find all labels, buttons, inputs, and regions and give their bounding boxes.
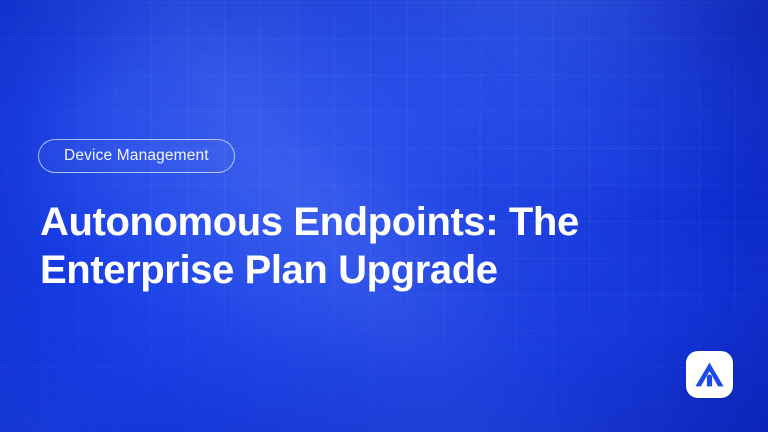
slide-content: Device Management Autonomous Endpoints: … <box>0 0 768 432</box>
brand-logo <box>686 351 733 398</box>
page-title-line-2: Enterprise Plan Upgrade <box>40 246 660 294</box>
page-title: Autonomous Endpoints: The Enterprise Pla… <box>40 198 660 294</box>
category-badge-label: Device Management <box>64 148 209 164</box>
slide-canvas: Device Management Autonomous Endpoints: … <box>0 0 768 432</box>
chevron-a-icon <box>694 361 725 388</box>
page-title-line-1: Autonomous Endpoints: The <box>40 198 660 246</box>
category-badge: Device Management <box>38 139 235 173</box>
